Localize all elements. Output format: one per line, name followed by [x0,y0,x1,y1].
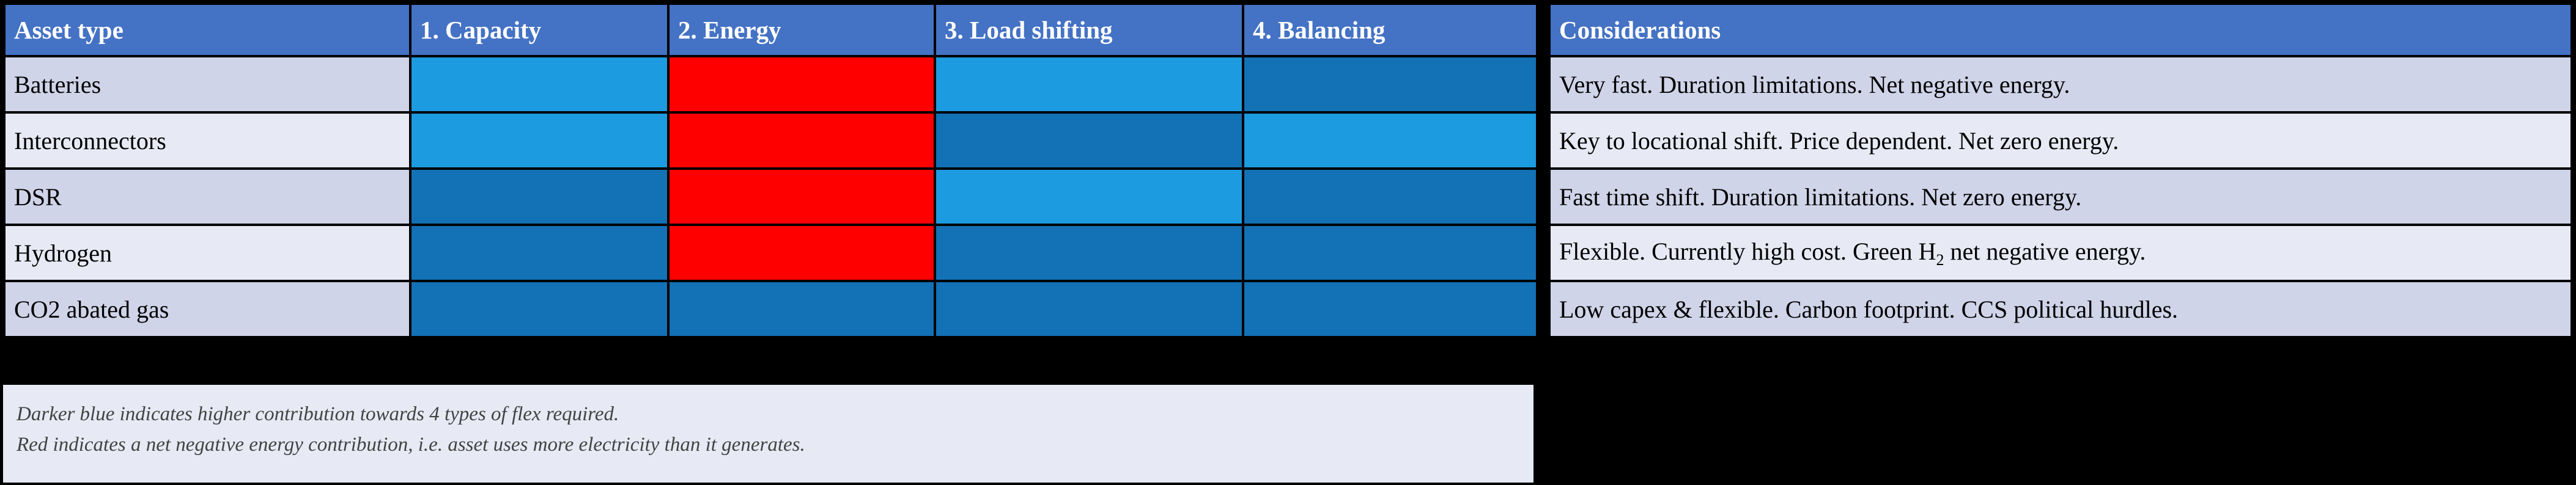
flex-level-swatch-red [670,114,934,167]
flex-level-swatch-dark-blue [411,282,667,336]
consideration-cell: Fast time shift. Duration limitations. N… [1551,170,2570,224]
flex-level-swatch-dark-blue [411,170,667,224]
table-row: Very fast. Duration limitations. Net neg… [1551,57,2570,111]
considerations-header-row: Considerations [1551,5,2570,55]
column-header-load-shifting: 3. Load shifting [936,5,1242,55]
flex-level-swatch-light-blue [411,57,667,111]
asset-type-cell: Hydrogen [6,226,409,280]
flex-level-swatch-red [670,226,934,280]
column-header-considerations: Considerations [1551,5,2570,55]
table-row: Key to locational shift. Price dependent… [1551,114,2570,167]
table-row: Hydrogen [6,226,1536,280]
table-row: Low capex & flexible. Carbon footprint. … [1551,282,2570,336]
asset-type-cell: CO2 abated gas [6,282,409,336]
table-row: DSR [6,170,1536,224]
considerations-panel: Considerations Very fast. Duration limit… [1548,2,2573,366]
flex-level-swatch-dark-blue [670,282,934,336]
flex-level-swatch-dark-blue [1244,170,1536,224]
flex-level-swatch-light-blue [411,114,667,167]
consideration-cell: Very fast. Duration limitations. Net neg… [1551,57,2570,111]
flex-matrix-table: Asset type 1. Capacity 2. Energy 3. Load… [3,2,1538,338]
column-header-energy: 2. Energy [670,5,934,55]
asset-type-cell: DSR [6,170,409,224]
flex-level-swatch-light-blue [936,170,1242,224]
matrix-body: BatteriesInterconnectorsDSRHydrogenCO2 a… [6,57,1536,336]
flex-level-swatch-dark-blue [1244,226,1536,280]
consideration-cell: Flexible. Currently high cost. Green H2 … [1551,226,2570,280]
asset-type-cell: Batteries [6,57,409,111]
consideration-cell: Key to locational shift. Price dependent… [1551,114,2570,167]
table-row: Fast time shift. Duration limitations. N… [1551,170,2570,224]
column-header-capacity: 1. Capacity [411,5,667,55]
flex-level-swatch-dark-blue [936,114,1242,167]
matrix-header-row: Asset type 1. Capacity 2. Energy 3. Load… [6,5,1536,55]
table-row: Interconnectors [6,114,1536,167]
table-row: Batteries [6,57,1536,111]
flex-level-swatch-dark-blue [1244,282,1536,336]
considerations-body: Very fast. Duration limitations. Net neg… [1551,57,2570,336]
flex-level-swatch-dark-blue [936,282,1242,336]
flex-level-swatch-red [670,170,934,224]
table-row: CO2 abated gas [6,282,1536,336]
asset-type-cell: Interconnectors [6,114,409,167]
column-header-asset-type: Asset type [6,5,409,55]
flex-level-swatch-dark-blue [411,226,667,280]
flex-level-swatch-red [670,57,934,111]
table-row: Flexible. Currently high cost. Green H2 … [1551,226,2570,280]
flex-level-swatch-dark-blue [936,226,1242,280]
footnote-line-blue: Darker blue indicates higher contributio… [17,399,1533,430]
column-header-balancing: 4. Balancing [1244,5,1536,55]
legend-footnote-panel: Darker blue indicates higher contributio… [3,385,1533,483]
flex-matrix-panel: Asset type 1. Capacity 2. Energy 3. Load… [3,2,1533,366]
considerations-table: Considerations Very fast. Duration limit… [1548,2,2573,338]
flex-level-swatch-dark-blue [1244,57,1536,111]
consideration-cell: Low capex & flexible. Carbon footprint. … [1551,282,2570,336]
flex-level-swatch-light-blue [936,57,1242,111]
flex-level-swatch-light-blue [1244,114,1536,167]
footnote-line-red: Red indicates a net negative energy cont… [17,430,1533,461]
